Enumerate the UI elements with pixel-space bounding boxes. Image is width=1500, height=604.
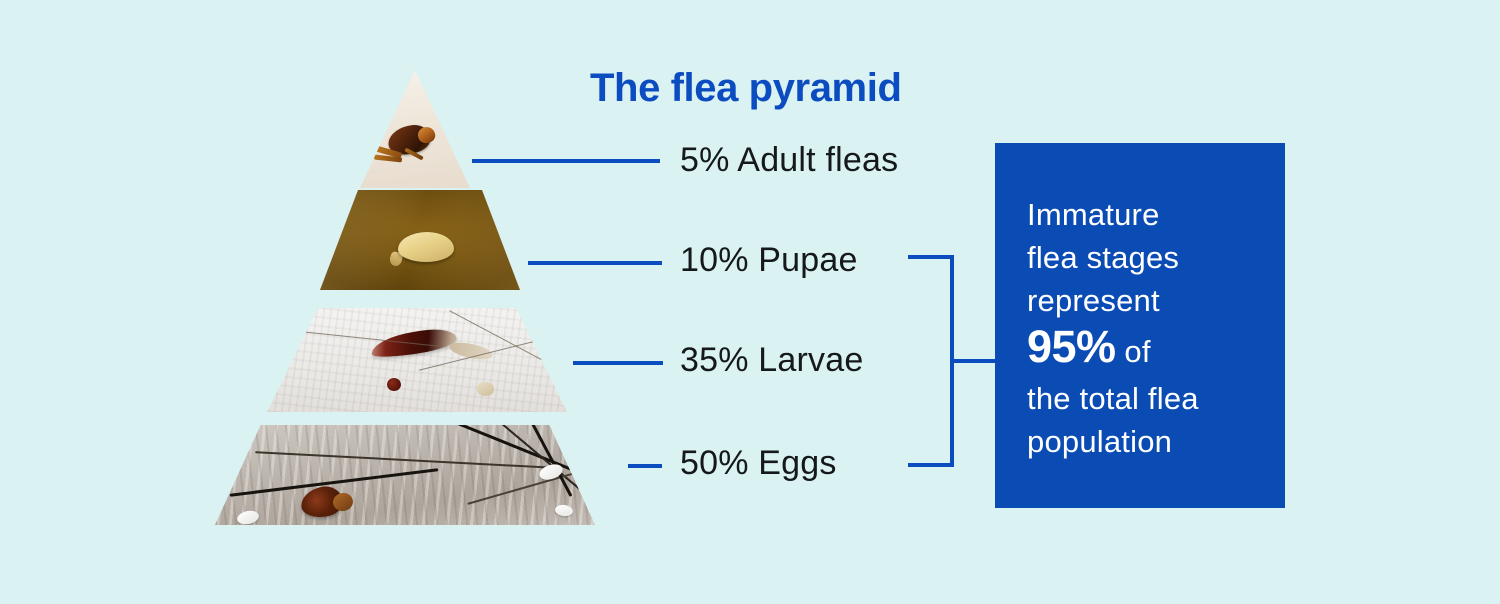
pupa-icon — [398, 232, 454, 262]
callout-highlight-percent: 95% — [1027, 321, 1116, 372]
page-title: The flea pyramid — [590, 66, 901, 111]
callout-text: Immature flea stages represent 95% of th… — [1027, 193, 1285, 463]
connector-line-pupae — [528, 261, 662, 265]
bracket-arm-top — [908, 255, 954, 259]
pyramid-tier-pupae — [320, 190, 520, 290]
callout-line-6: population — [1027, 420, 1285, 463]
bracket-arm-middle — [950, 359, 998, 363]
stage-label-adult: 5% Adult fleas — [680, 141, 898, 180]
flea-egg-icon — [554, 504, 573, 517]
stage-label-larvae: 35% Larvae — [680, 341, 863, 380]
connector-line-larvae — [573, 361, 663, 365]
stage-label-pupae: 10% Pupae — [680, 241, 858, 280]
carpet-hair-icon — [255, 451, 555, 469]
flea-pyramid-graphic — [205, 60, 605, 540]
larva-tail-icon — [448, 340, 494, 363]
callout-line-5: the total flea — [1027, 377, 1285, 420]
stage-label-eggs: 50% Eggs — [680, 444, 837, 483]
callout-line-3: represent — [1027, 279, 1285, 322]
pyramid-tier-adult — [360, 70, 470, 188]
callout-box: Immature flea stages represent 95% of th… — [995, 143, 1285, 508]
flea-egg-icon — [236, 509, 260, 525]
callout-line-4: 95% of — [1027, 322, 1285, 377]
larva-dot-icon — [387, 378, 401, 391]
carpet-hair-icon — [528, 425, 573, 497]
callout-line-2: flea stages — [1027, 236, 1285, 279]
pyramid-tier-larvae — [267, 308, 567, 412]
callout-line-1: Immature — [1027, 193, 1285, 236]
bracket-arm-bottom — [908, 463, 954, 467]
infographic-canvas: The flea pyramid — [0, 0, 1500, 604]
flea-egg-icon — [477, 382, 494, 396]
connector-line-adult — [472, 159, 660, 163]
pyramid-tier-eggs — [215, 425, 595, 525]
callout-of-text: of — [1116, 334, 1151, 369]
connector-line-eggs — [628, 464, 662, 468]
